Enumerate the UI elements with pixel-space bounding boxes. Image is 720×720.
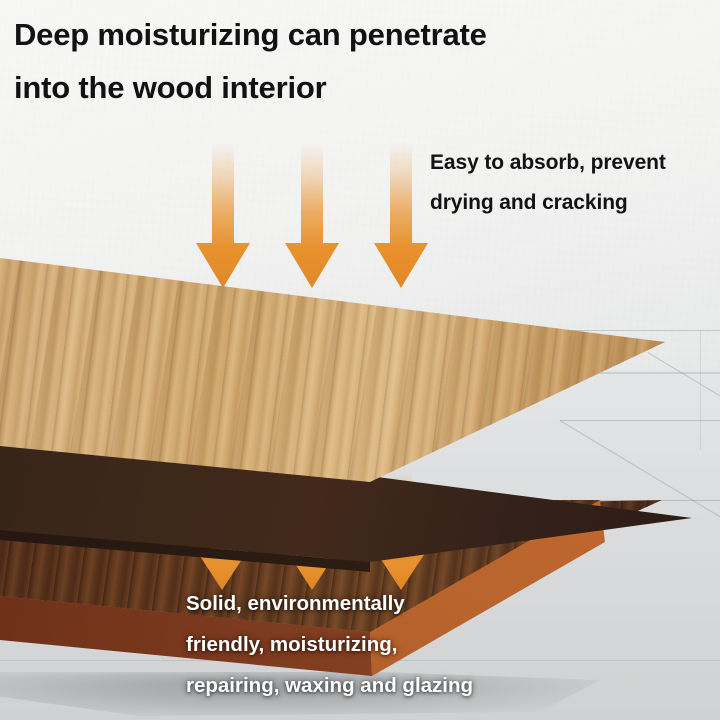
layer-top-wear <box>0 250 700 500</box>
infographic-stage: Deep moisturizing can penetrate into the… <box>0 0 720 720</box>
callout-right-line-1: Easy to absorb, prevent <box>430 143 720 183</box>
callout-bottom-line-2: friendly, moisturizing, <box>186 624 606 665</box>
callout-bottom-line-3: repairing, waxing and glazing <box>186 665 606 706</box>
callout-bottom-line-1: Solid, environmentally <box>186 583 606 624</box>
headline: Deep moisturizing can penetrate into the… <box>14 8 654 115</box>
headline-line-2: into the wood interior <box>14 61 654 114</box>
callout-right: Easy to absorb, prevent drying and crack… <box>430 143 720 224</box>
headline-line-1: Deep moisturizing can penetrate <box>14 8 654 61</box>
callout-right-line-2: drying and cracking <box>430 183 720 223</box>
callout-bottom: Solid, environmentally friendly, moistur… <box>186 583 606 706</box>
